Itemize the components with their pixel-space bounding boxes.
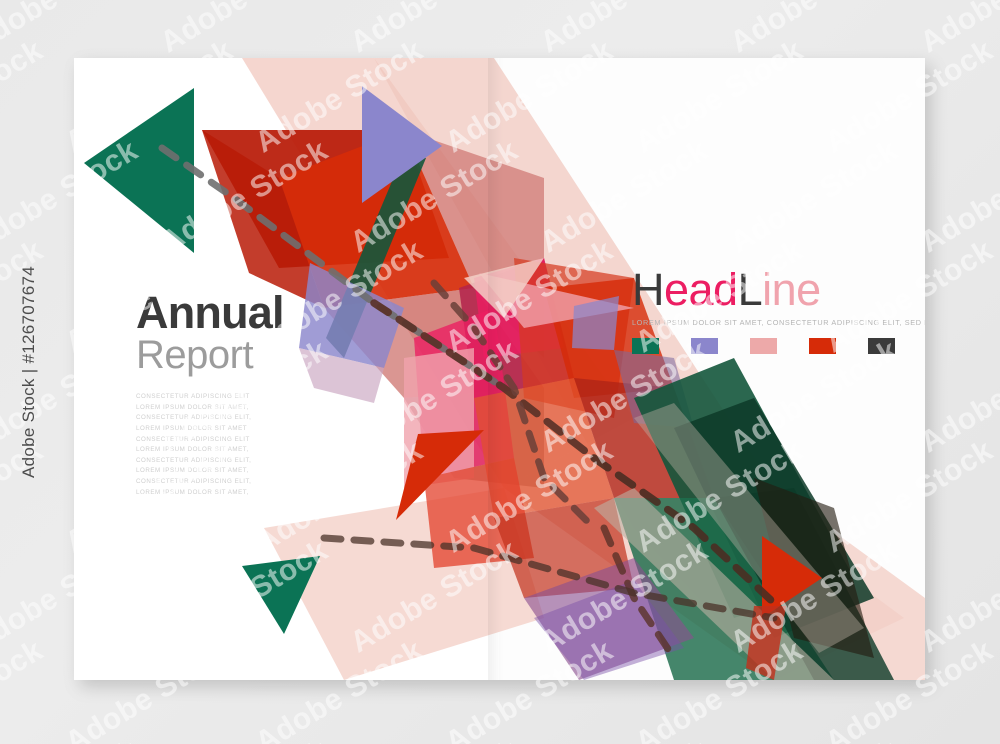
swatch-pink <box>750 338 777 354</box>
body-line: LOREM IPSUM DOLOR SIT AMET, <box>136 488 366 499</box>
headline-part-1: ead <box>664 264 738 315</box>
watermark-text: Adobe Stock <box>345 0 524 60</box>
swatch-orange <box>809 338 836 354</box>
watermark-text: Adobe Stock <box>915 0 1000 60</box>
brochure-spread: Annual Report CONSECTETUR ADIPISCING ELI… <box>74 58 925 680</box>
poly-teal-triangle-topleft <box>84 88 194 253</box>
body-line: CONSECTETUR ADIPISCING ELIT, <box>136 477 366 488</box>
watermark-text: Adobe Stock <box>915 734 1000 744</box>
body-line: CONSECTETUR ADIPISCING ELIT <box>136 392 366 403</box>
body-line: CONSECTETUR ADIPISCING ELIT, <box>136 456 366 467</box>
headline-part-0: H <box>632 264 664 315</box>
headline-part-3: ine <box>762 264 821 315</box>
watermark-text: Adobe Stock <box>155 734 334 744</box>
body-line: CONSECTETUR ADIPISCING ELIT, <box>136 413 366 424</box>
watermark-text: Adobe Stock <box>535 0 714 60</box>
body-line: LOREM IPSUM DOLOR SIT AMET, <box>136 445 366 456</box>
page-title: Annual <box>136 291 366 335</box>
watermark-text: Adobe Stock <box>725 734 904 744</box>
watermark-text: Adobe Stock <box>535 734 714 744</box>
swatch-purple <box>691 338 718 354</box>
color-swatch-row <box>632 338 904 354</box>
stock-id-label: Adobe Stock | #126707674 <box>8 0 50 744</box>
body-paragraph: CONSECTETUR ADIPISCING ELITLOREM IPSUM D… <box>136 392 366 499</box>
watermark-text: Adobe Stock <box>915 134 1000 260</box>
headline: HeadLine <box>632 267 904 312</box>
swatch-teal <box>632 338 659 354</box>
left-page-text-block: Annual Report CONSECTETUR ADIPISCING ELI… <box>136 291 366 498</box>
body-line: LOREM IPSUM DOLOR SIT AMET, <box>136 466 366 477</box>
body-line: LOREM IPSUM DOLOR SIT AMET <box>136 424 366 435</box>
watermark-text: Adobe Stock <box>725 0 904 60</box>
headline-part-2: L <box>738 264 763 315</box>
watermark-text: Adobe Stock <box>915 334 1000 460</box>
right-page-text-block: HeadLine LOREM IPSUM DOLOR SIT AMET, CON… <box>632 267 904 354</box>
watermark-text: Adobe Stock <box>155 0 334 60</box>
page-fold-gutter <box>488 58 514 680</box>
body-line: LOREM IPSUM DOLOR SIT AMET, <box>136 403 366 414</box>
watermark-text: Adobe Stock <box>345 734 524 744</box>
swatch-dark <box>868 338 895 354</box>
watermark-text: Adobe Stock <box>915 534 1000 660</box>
tagline: LOREM IPSUM DOLOR SIT AMET, CONSECTETUR … <box>632 318 904 327</box>
body-line: CONSECTETUR ADIPISCING ELIT <box>136 435 366 446</box>
stock-photo-canvas: Annual Report CONSECTETUR ADIPISCING ELI… <box>0 0 1000 744</box>
page-subtitle: Report <box>136 335 366 376</box>
stock-id-text: Adobe Stock | #126707674 <box>19 266 39 478</box>
